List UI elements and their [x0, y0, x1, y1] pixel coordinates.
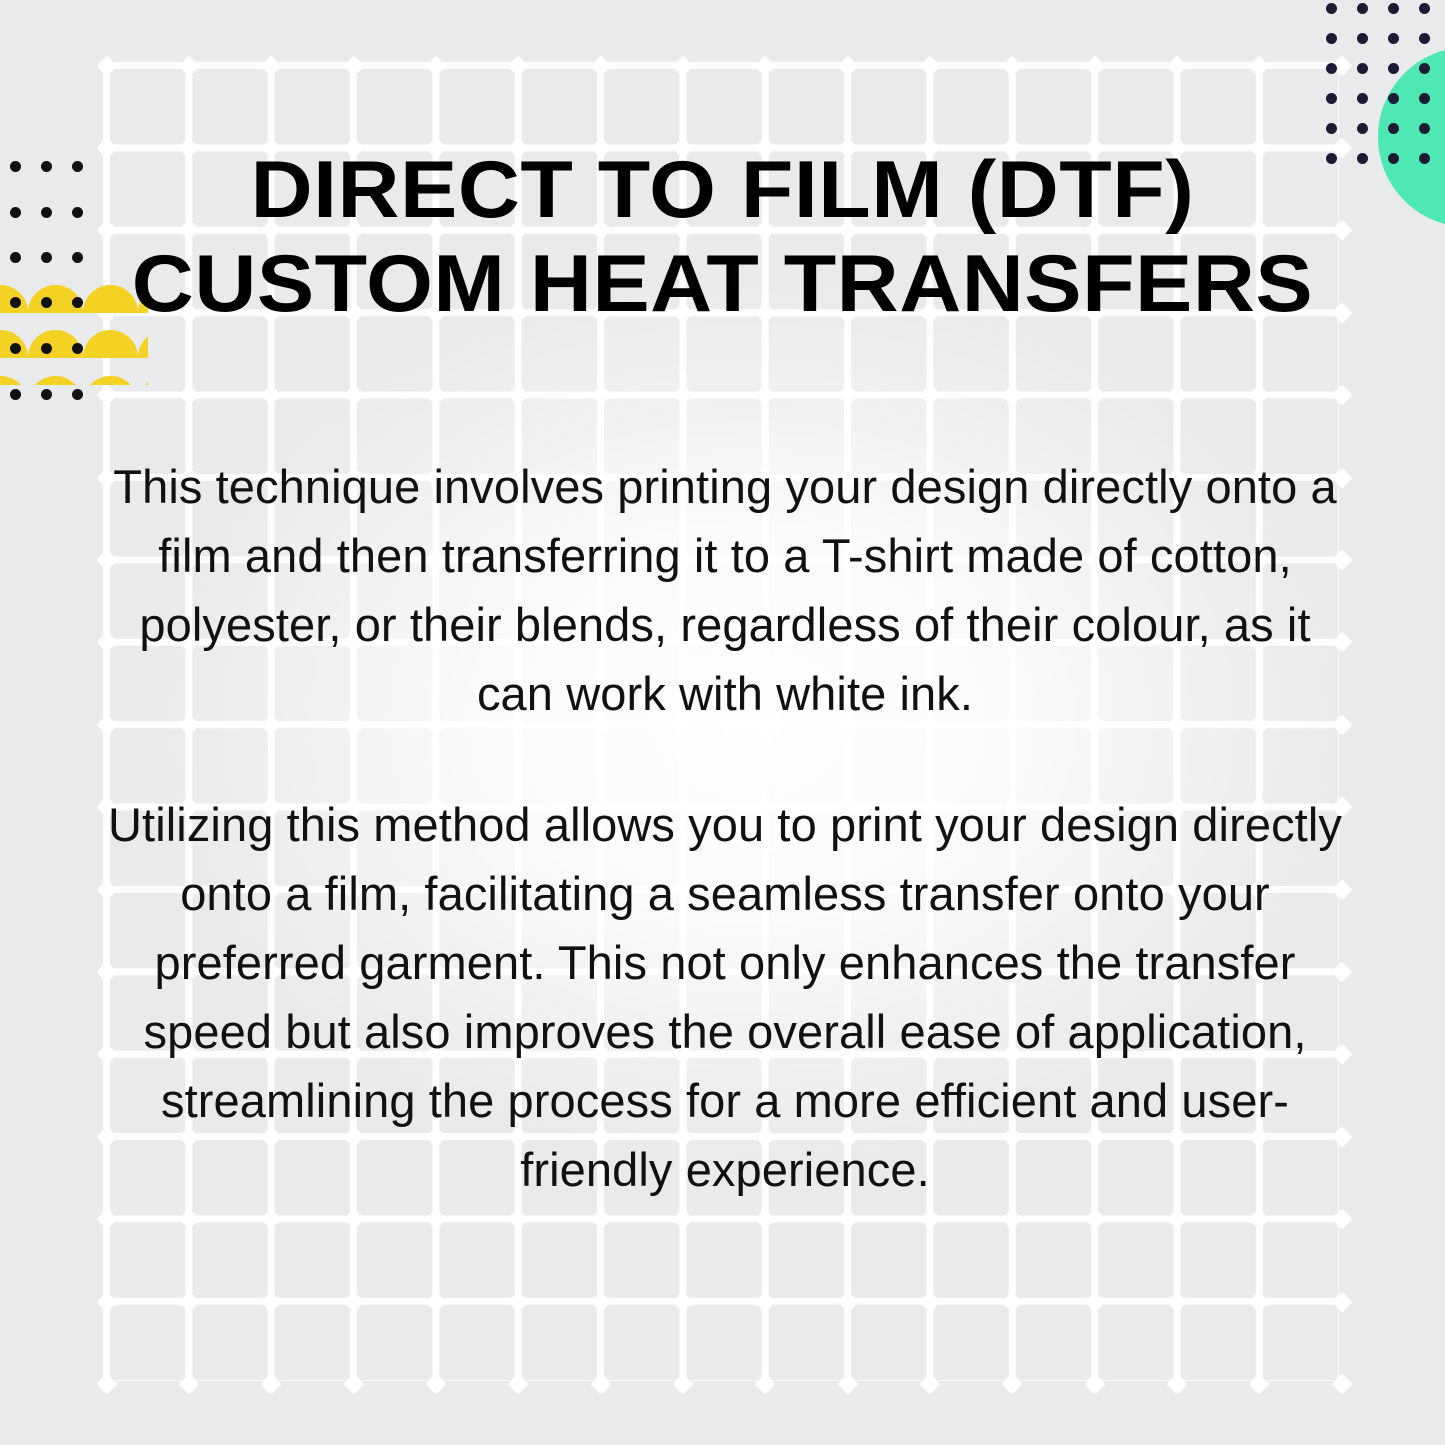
poster-canvas: DIRECT TO FILM (DTF) CUSTOM HEAT TRANSFE… [0, 0, 1445, 1445]
title-line-1: DIRECT TO FILM (DTF) [84, 143, 1361, 237]
title-line-2: CUSTOM HEAT TRANSFERS [84, 237, 1361, 331]
poster-content: DIRECT TO FILM (DTF) CUSTOM HEAT TRANSFE… [0, 0, 1445, 1445]
body-text-block: This technique involves printing your de… [100, 452, 1350, 1204]
body-paragraph-2: Utilizing this method allows you to prin… [100, 790, 1350, 1204]
body-paragraph-1: This technique involves printing your de… [100, 452, 1350, 728]
page-title: DIRECT TO FILM (DTF) CUSTOM HEAT TRANSFE… [84, 143, 1361, 331]
